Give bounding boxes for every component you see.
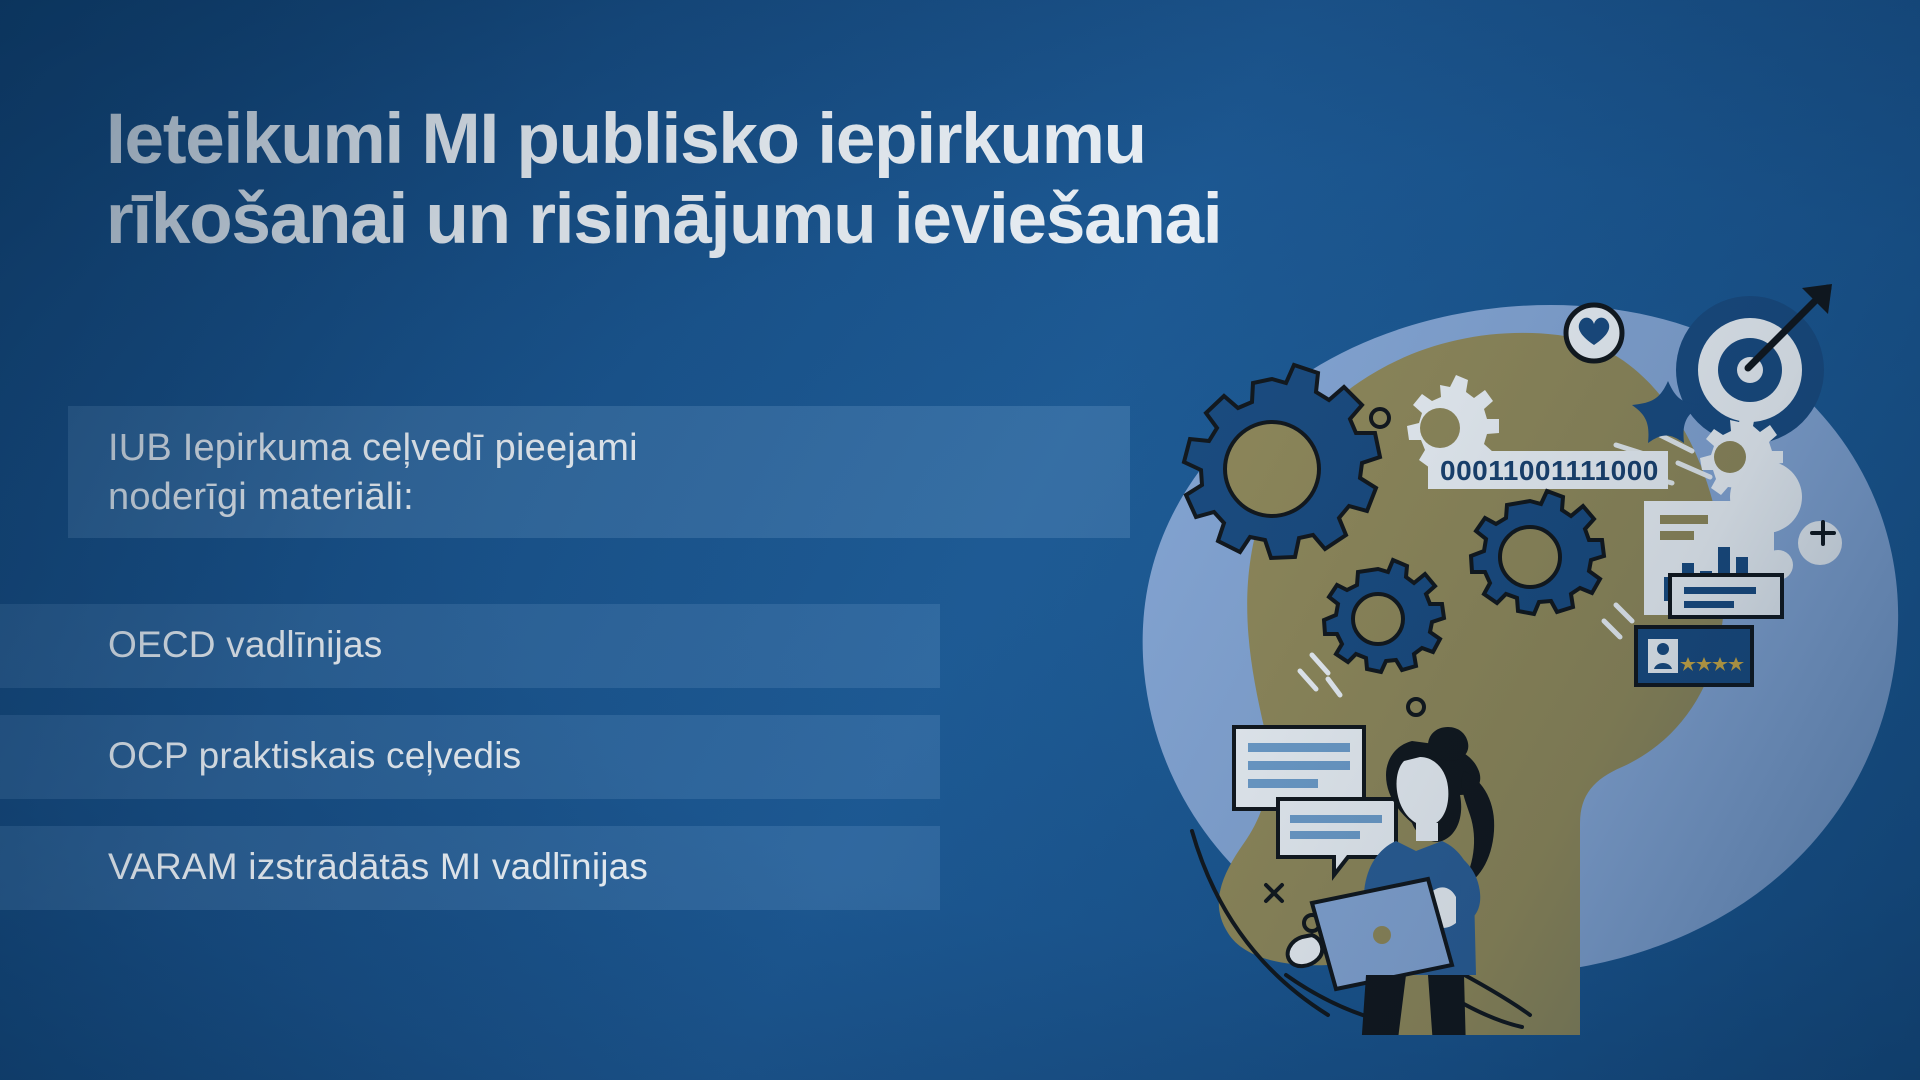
binary-code-label: 00011001111000 [1428, 451, 1668, 489]
document-card [1670, 575, 1782, 617]
subtitle-line-1: IUB Iepirkuma ceļvedī pieejami [108, 424, 1008, 473]
title-line-2: rīkošanai un risinājumu ieviešanai [106, 180, 1406, 260]
ai-brain-illustration: 00011001111000 [1060, 275, 1920, 1035]
subtitle-text: IUB Iepirkuma ceļvedī pieejami noderīgi … [108, 424, 1008, 523]
list-item[interactable]: OCP praktiskais ceļvedis [0, 715, 940, 799]
page-title: Ieteikumi MI publisko iepirkumu rīkošana… [106, 100, 1406, 260]
list-item[interactable]: OECD vadlīnijas [0, 604, 940, 688]
list-item-label: OECD vadlīnijas [108, 624, 382, 666]
chat-bubble-large [1234, 727, 1364, 809]
subtitle-line-2: noderīgi materiāli: [108, 473, 1008, 522]
list-item[interactable]: VARAM izstrādātās MI vadlīnijas [0, 826, 940, 910]
title-line-1: Ieteikumi MI publisko iepirkumu [106, 100, 1406, 180]
id-card-icon [1636, 627, 1752, 685]
list-item-label: VARAM izstrādātās MI vadlīnijas [108, 846, 648, 888]
heart-badge-icon [1566, 305, 1622, 361]
slide-canvas: Ieteikumi MI publisko iepirkumu rīkošana… [0, 0, 1920, 1080]
list-item-label: OCP praktiskais ceļvedis [108, 735, 521, 777]
binary-code-text: 00011001111000 [1440, 455, 1659, 486]
